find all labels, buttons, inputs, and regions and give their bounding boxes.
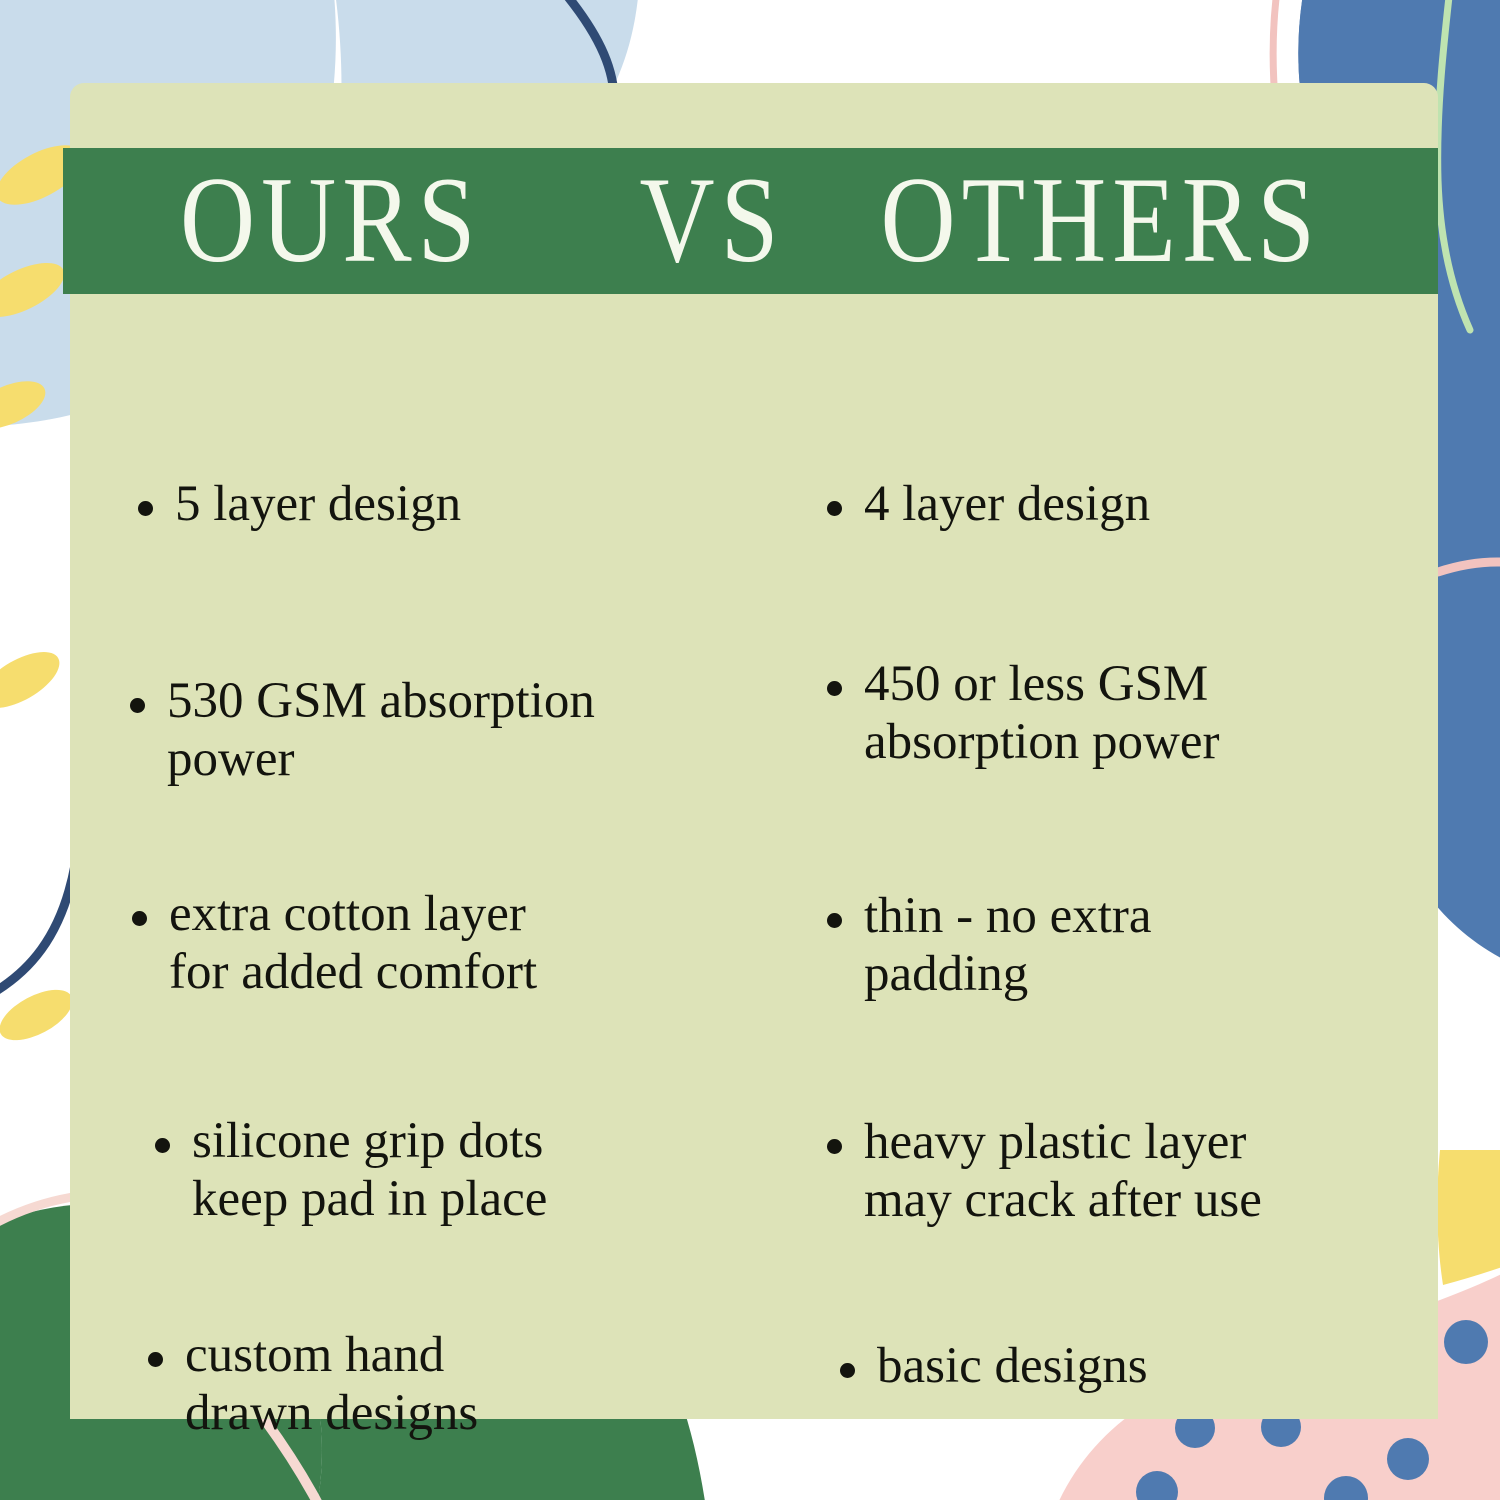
bullet-dot-icon — [827, 681, 842, 696]
list-item-label: custom hand drawn designs — [185, 1326, 478, 1442]
yellow-petal-5 — [0, 371, 52, 438]
list-item-label: silicone grip dots keep pad in place — [192, 1112, 547, 1228]
bullet-dot-icon — [155, 1138, 170, 1153]
list-item-label: 530 GSM absorption power — [167, 672, 595, 788]
list-item-label: basic designs — [877, 1337, 1148, 1395]
list-item-label: thin - no extra padding — [864, 887, 1152, 1003]
bullet-dot-icon — [130, 698, 145, 713]
list-item-label: extra cotton layer for added comfort — [169, 885, 537, 1001]
comparison-card: OURS VS OTHERS 5 layer design 530 GSM ab… — [70, 83, 1438, 1419]
mint-curve-top-right — [1438, 0, 1470, 330]
list-item: 4 layer design — [827, 475, 1150, 533]
list-item: basic designs — [840, 1337, 1148, 1395]
infographic-canvas: OURS VS OTHERS 5 layer design 530 GSM ab… — [0, 0, 1500, 1500]
list-item: heavy plastic layer may crack after use — [827, 1113, 1262, 1229]
list-item: custom hand drawn designs — [148, 1326, 478, 1442]
list-item-label: heavy plastic layer may crack after use — [864, 1113, 1262, 1229]
page-title: OURS VS OTHERS — [180, 160, 1321, 283]
bullet-dot-icon — [132, 911, 147, 926]
comparison-columns: 5 layer design 530 GSM absorption power … — [70, 315, 1438, 1419]
pink-curve-right — [1438, 562, 1500, 585]
bullet-dot-icon — [827, 913, 842, 928]
list-item: extra cotton layer for added comfort — [132, 885, 537, 1001]
others-column: 4 layer design 450 or less GSM absorptio… — [805, 315, 1438, 1419]
list-item: 5 layer design — [138, 475, 461, 533]
list-item-label: 450 or less GSM absorption power — [864, 655, 1220, 771]
list-item-label: 4 layer design — [864, 475, 1150, 533]
list-item: silicone grip dots keep pad in place — [155, 1112, 547, 1228]
bullet-dot-icon — [827, 501, 842, 516]
bullet-dot-icon — [827, 1139, 842, 1154]
yellow-petal-3 — [0, 252, 72, 328]
list-item: 450 or less GSM absorption power — [827, 655, 1220, 771]
yellow-petal-8 — [0, 979, 80, 1050]
ours-column: 5 layer design 530 GSM absorption power … — [70, 315, 805, 1419]
list-item: 530 GSM absorption power — [130, 672, 595, 788]
bullet-dot-icon — [840, 1363, 855, 1378]
yellow-petal-6 — [0, 641, 68, 720]
list-item-label: 5 layer design — [175, 475, 461, 533]
header-banner: OURS VS OTHERS — [63, 148, 1438, 294]
bullet-dot-icon — [138, 501, 153, 516]
list-item: thin - no extra padding — [827, 887, 1152, 1003]
bullet-dot-icon — [148, 1352, 163, 1367]
yellow-shape-bottom-right — [1437, 1150, 1500, 1285]
